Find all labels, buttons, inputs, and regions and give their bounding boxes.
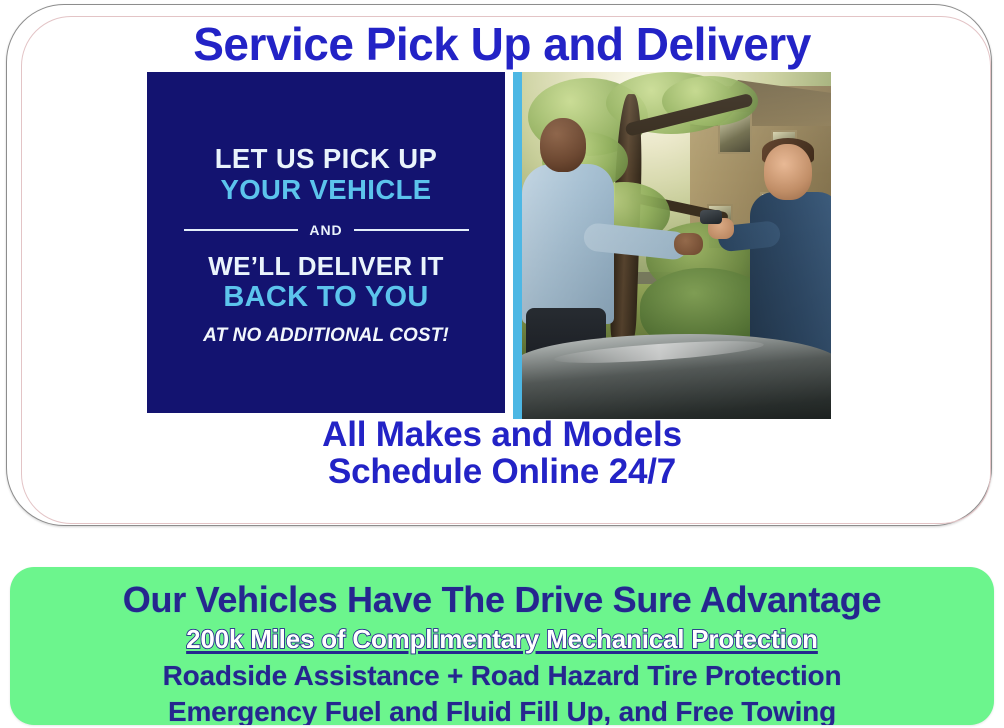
photo-person-right-head [764,144,812,200]
photo-person-left-hand [674,233,703,255]
photo-person-left-head [540,118,586,172]
banner-line-1: LET US PICK UP [215,144,438,175]
banner-line-5: AT NO ADDITIONAL COST! [203,325,449,347]
subhead-line-2: Schedule Online 24/7 [0,453,1004,490]
banner-line-4: BACK TO YOU [223,281,428,313]
advantage-benefit-2: Emergency Fuel and Fluid Fill Up, and Fr… [10,696,994,725]
page-title: Service Pick Up and Delivery [0,17,1004,71]
advantage-panel: Our Vehicles Have The Drive Sure Advanta… [10,567,994,725]
advantage-highlight: 200k Miles of Complimentary Mechanical P… [10,624,994,655]
promo-banner: LET US PICK UP YOUR VEHICLE AND WE’LL DE… [147,72,831,419]
banner-connector-row: AND [184,222,469,238]
banner-line-3: WE’LL DELIVER IT [208,252,443,281]
rule-right-icon [354,229,469,231]
rule-left-icon [184,229,299,231]
promo-subhead: All Makes and Models Schedule Online 24/… [0,416,1004,491]
subhead-line-1: All Makes and Models [0,416,1004,453]
advantage-title: Our Vehicles Have The Drive Sure Advanta… [10,581,994,619]
car-keys-icon [700,210,722,224]
banner-text-panel: LET US PICK UP YOUR VEHICLE AND WE’LL DE… [147,72,505,413]
banner-line-2: YOUR VEHICLE [220,175,431,206]
banner-text-stack: LET US PICK UP YOUR VEHICLE AND WE’LL DE… [147,72,505,413]
key-handoff-photo [522,72,831,419]
banner-divider-stripe [513,72,522,419]
banner-connector: AND [298,222,353,238]
advantage-benefit-1: Roadside Assistance + Road Hazard Tire P… [10,660,994,691]
